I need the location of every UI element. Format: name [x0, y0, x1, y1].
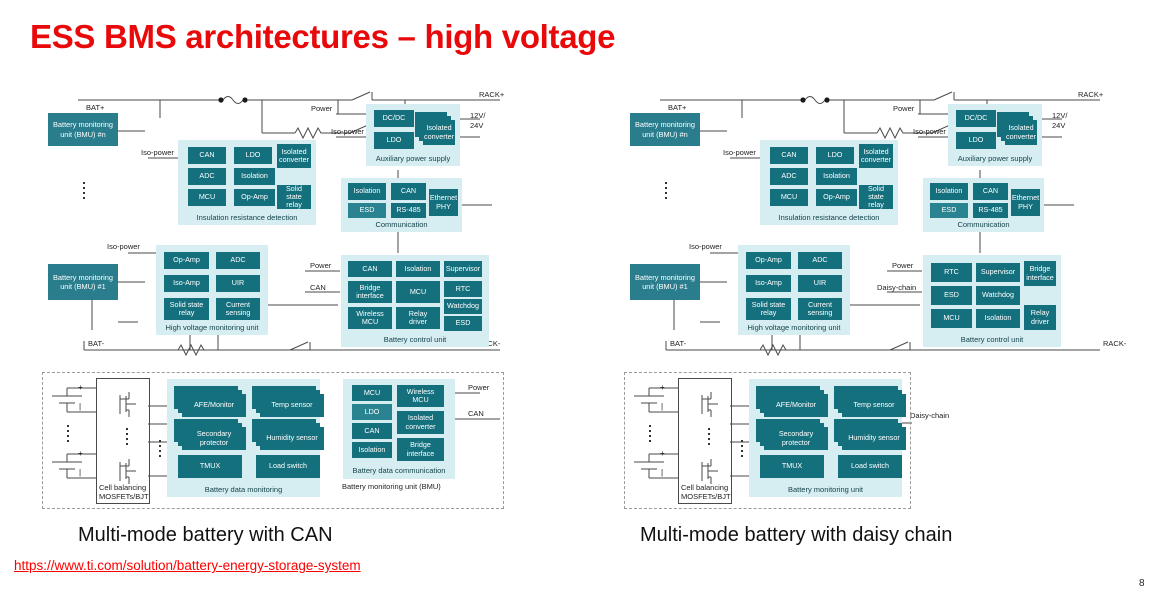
- chip-isolation: Isolation: [352, 442, 392, 458]
- chip-esd: ESD: [444, 316, 482, 331]
- chip-rtc: RTC: [931, 263, 972, 282]
- chip-load-switch: Load switch: [256, 455, 320, 478]
- cell-balancing-label-right: Cell balancingMOSFETs/BJT: [681, 484, 728, 501]
- cell-ellipsis-right: [649, 425, 651, 445]
- caption-bmu-outer-left: Battery monitoring unit (BMU): [342, 483, 441, 492]
- label-daisy-chain-bcu-right: Daisy-chain: [877, 284, 916, 293]
- label-can-bcu-left: CAN: [310, 284, 326, 293]
- caption-communication-right: Communication: [923, 220, 1044, 229]
- label-isopower-aux-right: Iso-power: [913, 128, 946, 137]
- panel-insulation-right: CAN LDO Isolatedconverter ADC Isolation …: [760, 140, 898, 225]
- chip-isoamp: Iso-Amp: [164, 275, 209, 292]
- caption-communication-left: Communication: [341, 220, 462, 229]
- chip-ethernet-phy: EthernetPHY: [429, 189, 458, 216]
- chip-esd: ESD: [931, 286, 972, 305]
- chip-bridge-interface: Bridgeinterface: [348, 281, 392, 303]
- label-power-bcu-right: Power: [892, 262, 913, 271]
- caption-data-comm-left: Battery data communication: [343, 466, 455, 475]
- chip-ldo: LDO: [374, 132, 414, 149]
- caption-hv-monitoring-right: High voltage monitoring unit: [738, 323, 850, 332]
- chip-solid-state-relay: Solid staterelay: [859, 185, 893, 209]
- chip-humidity-sensor: Humidity sensor: [842, 427, 906, 450]
- chip-can: CAN: [188, 147, 226, 164]
- chip-isolated-converter: Isolatedconverter: [859, 144, 893, 168]
- chip-mcu: MCU: [396, 281, 440, 303]
- label-daisy-chain-bottom-right: Daisy-chain: [910, 412, 949, 421]
- chip-isolation: Isolation: [930, 183, 968, 200]
- caption-data-monitoring-left: Battery data monitoring: [167, 485, 320, 494]
- chip-wireless-mcu: WirelessMCU: [397, 385, 444, 407]
- cell-ellipsis-left: [67, 425, 69, 445]
- chip-watchdog: Watchdog: [976, 286, 1020, 305]
- panel-communication-right: Isolation CAN ESD RS-485 EthernetPHY Com…: [923, 178, 1044, 232]
- chip-supervisor: Supervisor: [976, 263, 1020, 282]
- chip-ldo: LDO: [956, 132, 996, 149]
- panel-aux-power-right: DC/DC LDO Isolatedconverter Auxiliary po…: [948, 104, 1042, 166]
- caption-right: Multi-mode battery with daisy chain: [640, 524, 952, 547]
- chip-afe-monitor: AFE/Monitor: [182, 394, 246, 417]
- chip-afe-monitor: AFE/Monitor: [764, 394, 828, 417]
- label-rack-minus-right: RACK-: [1103, 340, 1126, 349]
- chip-can: CAN: [770, 147, 808, 164]
- page-number: 8: [1139, 578, 1145, 589]
- label-bat-plus-left: BAT+: [86, 104, 104, 113]
- cell-minus-1-right: |: [661, 402, 663, 411]
- chip-ldo: LDO: [816, 147, 854, 164]
- chip-opamp: Op-Amp: [164, 252, 209, 269]
- bmu-ellipsis-left: [83, 182, 85, 202]
- label-bat-minus-left: BAT-: [88, 340, 104, 349]
- panel-communication-left: Isolation CAN ESD RS-485 EthernetPHY Com…: [341, 178, 462, 232]
- lead-ellipsis-left: [159, 440, 161, 460]
- chip-adc: ADC: [188, 168, 226, 185]
- chip-solid-state-relay: Solid staterelay: [164, 298, 209, 320]
- cell-minus-2-right: |: [661, 468, 663, 477]
- chip-isolation: Isolation: [976, 309, 1020, 328]
- label-power-bcu-left: Power: [310, 262, 331, 271]
- chip-mcu: MCU: [770, 189, 808, 206]
- label-bat-plus-right: BAT+: [668, 104, 686, 113]
- caption-bmu-right: Battery monitoring unit: [749, 485, 902, 494]
- bmu-1-box-right: Battery monitoringunit (BMU) #1: [630, 264, 700, 300]
- panel-hv-monitoring-right: Op-Amp ADC Iso-Amp UIR Solid staterelay …: [738, 245, 850, 335]
- chip-bridge-interface: Bridgeinterface: [397, 438, 444, 461]
- caption-aux-power-left: Auxiliary power supply: [366, 154, 460, 163]
- chip-bridge-interface: Bridgeinterface: [1024, 261, 1056, 286]
- caption-hv-monitoring-left: High voltage monitoring unit: [156, 323, 268, 332]
- label-volts-left-1: 12V/: [470, 112, 485, 121]
- panel-aux-power-left: DC/DC LDO Isolatedconverter Auxiliary po…: [366, 104, 460, 166]
- chip-current-sensing: Currentsensing: [798, 298, 842, 320]
- chip-can: CAN: [352, 423, 392, 439]
- chip-uir: UIR: [216, 275, 260, 292]
- bmu-1-label-left: Battery monitoringunit (BMU) #1: [53, 273, 113, 292]
- cell-minus-1-left: |: [79, 402, 81, 411]
- label-rack-plus-right: RACK+: [1078, 91, 1103, 100]
- slide-root: ESS BMS architectures – high voltage: [0, 0, 1165, 600]
- chip-relay-driver: Relaydriver: [396, 307, 440, 329]
- chip-isolation: Isolation: [348, 183, 386, 200]
- bmu-n-box-left: Battery monitoringunit (BMU) #n: [48, 113, 118, 146]
- bmu-ellipsis-right: [665, 182, 667, 202]
- lead-ellipsis-right: [741, 440, 743, 460]
- chip-can: CAN: [973, 183, 1008, 200]
- mosfet-ellipsis-left: [126, 428, 128, 448]
- label-power-aux-left: Power: [311, 105, 332, 114]
- cell-plus-2-left: +: [78, 449, 83, 458]
- panel-insulation-left: CAN LDO Isolatedconverter ADC Isolation …: [178, 140, 316, 225]
- chip-temp-sensor: Temp sensor: [260, 394, 324, 417]
- chip-opamp: Op-Amp: [816, 189, 857, 206]
- caption-insulation-left: Insulation resistance detection: [178, 213, 316, 222]
- panel-data-monitoring-left: AFE/Monitor Temp sensor Secondaryprotect…: [167, 379, 320, 497]
- chip-isolated-converter: Isolatedconverter: [423, 120, 455, 145]
- chip-isolation: Isolation: [396, 261, 440, 277]
- chip-opamp: Op-Amp: [746, 252, 791, 269]
- label-volts-left-2: 24V: [470, 122, 483, 131]
- chip-temp-sensor: Temp sensor: [842, 394, 906, 417]
- chip-esd: ESD: [348, 203, 386, 218]
- bmu-n-label-right: Battery monitoringunit (BMU) #n: [635, 120, 695, 139]
- panel-bcu-right: RTC Supervisor Bridgeinterface ESD Watch…: [923, 255, 1061, 347]
- caption-bcu-left: Battery control unit: [341, 335, 489, 344]
- mosfet-ellipsis-right: [708, 428, 710, 448]
- chip-solid-state-relay: Solid staterelay: [277, 185, 311, 209]
- label-isopower-insulation-right: Iso-power: [723, 149, 756, 158]
- chip-isolated-converter: Isolatedconverter: [1005, 120, 1037, 145]
- chip-isolation: Isolation: [816, 168, 857, 185]
- bmu-n-box-right: Battery monitoringunit (BMU) #n: [630, 113, 700, 146]
- chip-isolation: Isolation: [234, 168, 275, 185]
- bmu-n-label-left: Battery monitoringunit (BMU) #n: [53, 120, 113, 139]
- chip-isolated-converter: Isolatedconverter: [397, 411, 444, 434]
- label-bat-minus-right: BAT-: [670, 340, 686, 349]
- chip-ldo: LDO: [352, 404, 392, 420]
- bmu-1-label-right: Battery monitoringunit (BMU) #1: [635, 273, 695, 292]
- chip-adc: ADC: [770, 168, 808, 185]
- chip-secondary-protector: Secondaryprotector: [182, 427, 246, 450]
- cell-plus-1-left: +: [78, 383, 83, 392]
- page-title: ESS BMS architectures – high voltage: [30, 18, 615, 56]
- chip-mcu: MCU: [188, 189, 226, 206]
- panel-bmu-right: AFE/Monitor Temp sensor Secondaryprotect…: [749, 379, 902, 497]
- chip-opamp: Op-Amp: [234, 189, 275, 206]
- source-link[interactable]: https://www.ti.com/solution/battery-ener…: [14, 558, 361, 573]
- panel-bcu-left: CAN Isolation Supervisor Bridgeinterface…: [341, 255, 489, 347]
- chip-tmux: TMUX: [760, 455, 824, 478]
- cell-balancing-label-left: Cell balancingMOSFETs/BJT: [99, 484, 146, 501]
- chip-tmux: TMUX: [178, 455, 242, 478]
- caption-bcu-right: Battery control unit: [923, 335, 1061, 344]
- bmu-1-box-left: Battery monitoringunit (BMU) #1: [48, 264, 118, 300]
- cell-plus-1-right: +: [660, 383, 665, 392]
- chip-supervisor: Supervisor: [444, 261, 482, 277]
- chip-can: CAN: [391, 183, 426, 200]
- caption-insulation-right: Insulation resistance detection: [760, 213, 898, 222]
- chip-rs485: RS-485: [391, 203, 426, 218]
- chip-can: CAN: [348, 261, 392, 277]
- chip-uir: UIR: [798, 275, 842, 292]
- chip-watchdog: Watchdog: [444, 299, 482, 314]
- cell-minus-2-left: |: [79, 468, 81, 477]
- chip-solid-state-relay: Solid staterelay: [746, 298, 791, 320]
- chip-isoamp: Iso-Amp: [746, 275, 791, 292]
- cell-plus-2-right: +: [660, 449, 665, 458]
- caption-left: Multi-mode battery with CAN: [78, 524, 333, 547]
- chip-dcdc: DC/DC: [374, 110, 414, 127]
- chip-ldo: LDO: [234, 147, 272, 164]
- chip-esd: ESD: [930, 203, 968, 218]
- label-volts-right-2: 24V: [1052, 122, 1065, 131]
- chip-secondary-protector: Secondaryprotector: [764, 427, 828, 450]
- label-volts-right-1: 12V/: [1052, 112, 1067, 121]
- chip-humidity-sensor: Humidity sensor: [260, 427, 324, 450]
- chip-mcu: MCU: [931, 309, 972, 328]
- chip-wireless-mcu: WirelessMCU: [348, 307, 392, 329]
- label-isopower-aux-left: Iso-power: [331, 128, 364, 137]
- chip-ethernet-phy: EthernetPHY: [1011, 189, 1040, 216]
- chip-load-switch: Load switch: [838, 455, 902, 478]
- chip-mcu: MCU: [352, 385, 392, 401]
- chip-adc: ADC: [216, 252, 260, 269]
- label-isopower-insulation-left: Iso-power: [141, 149, 174, 158]
- chip-current-sensing: Currentsensing: [216, 298, 260, 320]
- panel-hv-monitoring-left: Op-Amp ADC Iso-Amp UIR Solid staterelay …: [156, 245, 268, 335]
- chip-dcdc: DC/DC: [956, 110, 996, 127]
- chip-isolated-converter: Isolatedconverter: [277, 144, 311, 168]
- label-isopower-hv-right: Iso-power: [689, 243, 722, 252]
- label-rack-plus-left: RACK+: [479, 91, 504, 100]
- label-isopower-hv-left: Iso-power: [107, 243, 140, 252]
- caption-aux-power-right: Auxiliary power supply: [948, 154, 1042, 163]
- chip-adc: ADC: [798, 252, 842, 269]
- chip-rs485: RS-485: [973, 203, 1008, 218]
- chip-relay-driver: Relaydriver: [1024, 305, 1056, 330]
- chip-rtc: RTC: [444, 281, 482, 297]
- label-power-aux-right: Power: [893, 105, 914, 114]
- panel-data-comm-left: MCU WirelessMCU LDO Isolatedconverter CA…: [343, 379, 455, 479]
